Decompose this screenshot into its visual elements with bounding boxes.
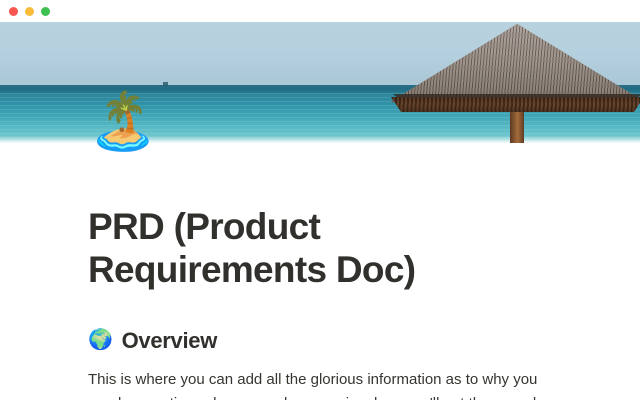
section-heading-overview[interactable]: 🌍 Overview bbox=[88, 292, 552, 355]
maximize-window-button[interactable] bbox=[41, 7, 50, 16]
globe-icon: 🌍 bbox=[88, 330, 113, 350]
palapa-fringe bbox=[391, 97, 640, 112]
page-title[interactable]: PRD (Product Requirements Doc) bbox=[88, 143, 552, 292]
minimize-window-button[interactable] bbox=[25, 7, 34, 16]
app-window: 🏝️ PRD (Product Requirements Doc) 🌍 Over… bbox=[0, 0, 640, 400]
section-heading-label: Overview bbox=[122, 327, 217, 355]
overview-paragraph[interactable]: This is where you can add all the glorio… bbox=[88, 354, 552, 400]
page-content: PRD (Product Requirements Doc) 🌍 Overvie… bbox=[0, 143, 640, 400]
palapa-umbrella-icon bbox=[390, 22, 640, 143]
page-icon-emoji[interactable]: 🏝️ bbox=[88, 93, 158, 149]
window-titlebar bbox=[0, 0, 640, 22]
boat-icon bbox=[163, 82, 168, 86]
close-window-button[interactable] bbox=[9, 7, 18, 16]
page-content-inner: PRD (Product Requirements Doc) 🌍 Overvie… bbox=[0, 143, 640, 400]
traffic-light-group bbox=[9, 7, 50, 16]
